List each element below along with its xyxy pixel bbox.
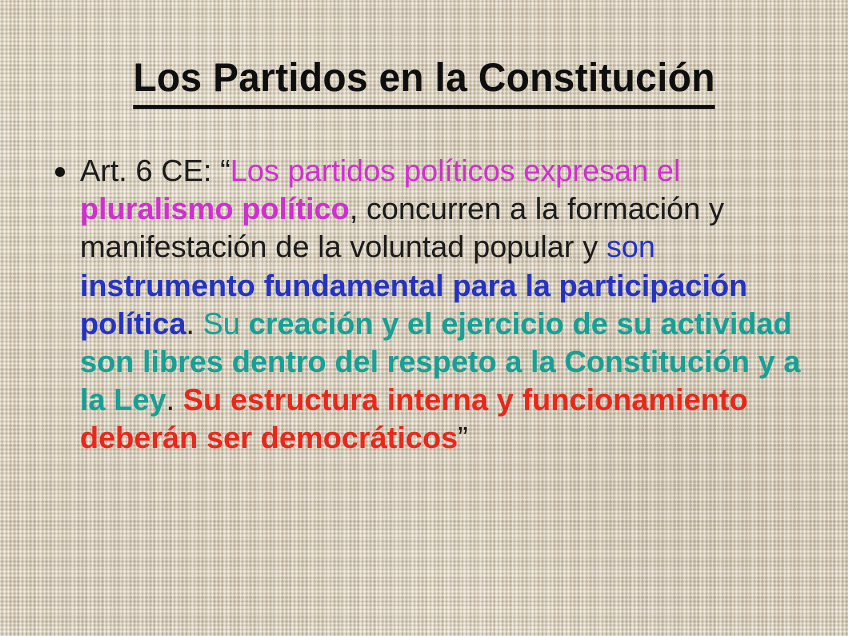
text-run: Los partidos políticos expresan el: [230, 154, 680, 188]
slide-canvas: Los Partidos en la Constitución Art. 6 C…: [0, 0, 848, 636]
body-content: Art. 6 CE: “Los partidos políticos expre…: [46, 152, 816, 458]
text-run: .: [186, 307, 203, 341]
text-run: Su: [203, 307, 249, 341]
text-run: son: [606, 230, 655, 264]
text-run: ”: [458, 421, 468, 455]
text-run: “: [220, 154, 230, 188]
text-run: Art. 6 CE:: [80, 154, 220, 188]
bullet-point-icon: [55, 167, 65, 177]
body-paragraph: Art. 6 CE: “Los partidos políticos expre…: [80, 152, 816, 458]
list-item: Art. 6 CE: “Los partidos políticos expre…: [46, 152, 816, 458]
page-title: Los Partidos en la Constitución: [133, 55, 715, 109]
title-area: Los Partidos en la Constitución: [0, 28, 848, 136]
text-run: .: [166, 383, 183, 417]
text-run: pluralismo político: [80, 192, 349, 226]
